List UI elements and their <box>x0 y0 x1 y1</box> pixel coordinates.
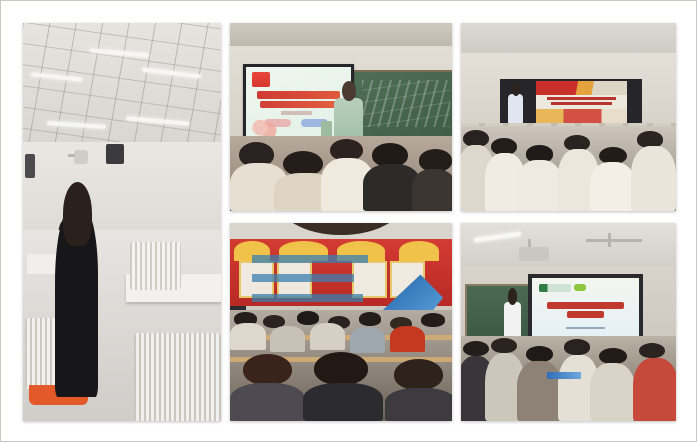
institution-logo-icon <box>539 284 571 291</box>
photo-top-left[interactable] <box>230 23 452 211</box>
slide-title-line2 <box>567 311 604 318</box>
seated-person-hair <box>63 182 93 246</box>
slide-title-line1 <box>547 302 624 309</box>
slide-title-line1 <box>257 91 340 99</box>
wall-speaker <box>25 154 35 178</box>
slide-title-line2 <box>551 102 612 105</box>
photo-top-right[interactable] <box>461 23 676 211</box>
projection-slide <box>536 81 626 122</box>
ceiling-fan-icon <box>586 239 642 242</box>
slide-subtitle <box>281 111 312 114</box>
ceiling <box>461 23 676 57</box>
security-camera-icon <box>74 150 88 164</box>
flag-graphic <box>536 81 626 94</box>
slide-title-line1 <box>547 97 616 100</box>
laptop-screen <box>547 372 581 380</box>
photo-center-tall[interactable] <box>23 23 221 421</box>
slide-illustration <box>249 108 276 136</box>
ceiling <box>461 223 676 267</box>
photo-grid <box>23 23 676 421</box>
projector <box>106 144 124 164</box>
chalkboard <box>352 70 452 142</box>
gold-arch <box>399 241 439 261</box>
audience <box>461 336 676 421</box>
slide-footer-graphic <box>536 109 626 123</box>
audience <box>230 136 452 211</box>
wall-panel <box>352 261 387 299</box>
ceiling-projector <box>519 247 549 261</box>
slide-badge-icon <box>252 72 271 87</box>
photo-bottom-right[interactable] <box>461 223 676 421</box>
chair-back <box>130 242 181 290</box>
chair-back <box>134 333 221 421</box>
slide-footer <box>566 327 605 330</box>
ceiling-grid <box>23 23 221 150</box>
audience <box>230 310 452 421</box>
audience <box>461 126 676 211</box>
green-badge-icon <box>574 284 587 291</box>
photo-bottom-left[interactable] <box>230 223 452 421</box>
collage-canvas <box>0 0 697 442</box>
